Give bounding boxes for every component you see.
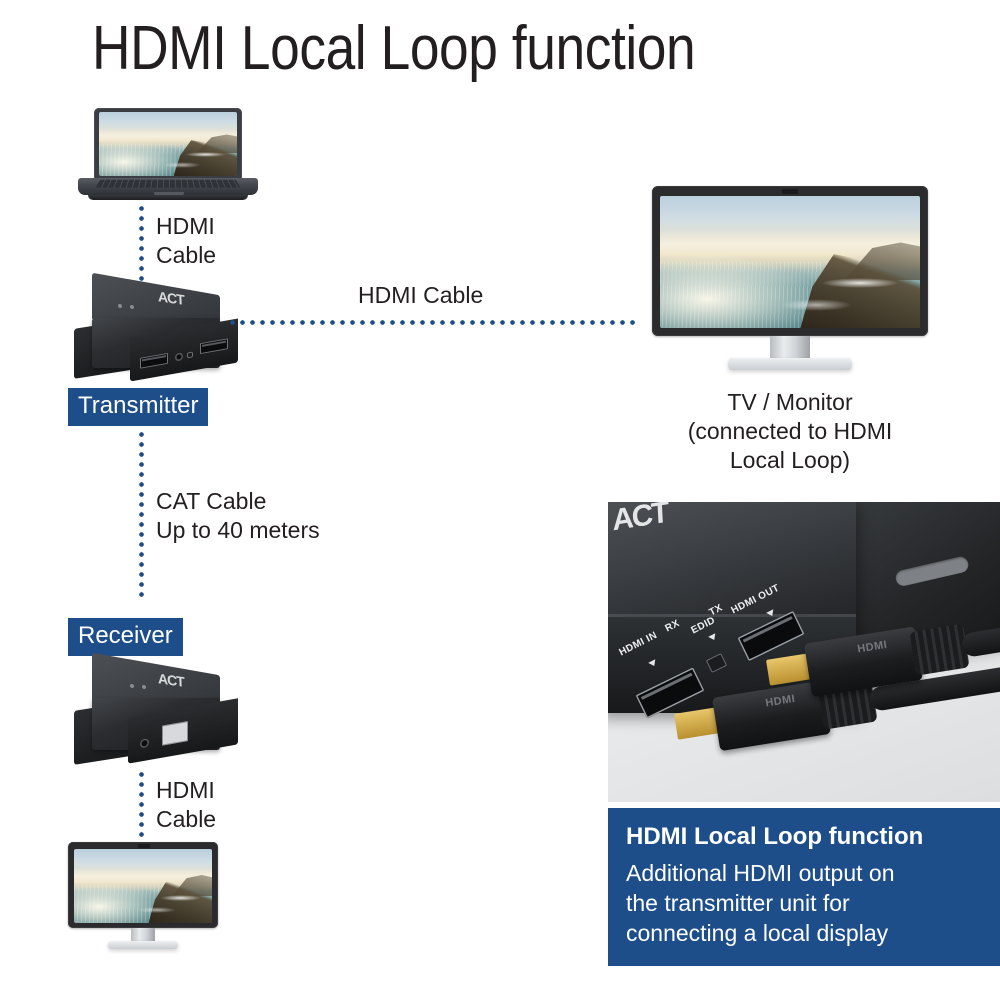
tv-neck xyxy=(770,336,810,360)
monitor-camera xyxy=(138,844,150,848)
act-logo-photo: ACT xyxy=(611,502,668,538)
tv-screen xyxy=(660,196,920,328)
caption-body: Additional HDMI output on the transmitte… xyxy=(626,858,982,948)
label-hdmi-cable-top: HDMI Cable xyxy=(156,212,216,270)
status-led xyxy=(130,684,134,689)
caption-heading: HDMI Local Loop function xyxy=(626,822,982,852)
plug-hdmi-text: HDMI xyxy=(857,639,889,656)
tv-wallpaper xyxy=(660,196,920,328)
connector-receiver-to-monitor xyxy=(139,772,144,844)
tv-monitor-image xyxy=(652,186,928,376)
laptop-keyboard xyxy=(96,180,241,188)
monitor-screen xyxy=(74,849,212,923)
transmitter-unit-image: ACT xyxy=(74,284,244,376)
rj45-port xyxy=(162,721,188,746)
receiver-power-jack xyxy=(140,738,149,749)
tag-receiver: Receiver xyxy=(68,618,183,656)
caption-box: HDMI Local Loop function Additional HDMI… xyxy=(608,808,1000,966)
plug-strain-relief xyxy=(909,624,969,676)
laptop-image xyxy=(78,108,258,202)
label-tv-monitor: TV / Monitor (connected to HDMI Local Lo… xyxy=(640,388,940,475)
status-led xyxy=(130,305,134,310)
diagram-canvas: HDMI Local Loop function HDMI Cable xyxy=(0,0,1000,1000)
plug-hdmi-text: HDMI xyxy=(765,693,797,710)
page-title: HDMI Local Loop function xyxy=(92,14,832,84)
tv-camera xyxy=(782,189,798,194)
product-closeup-photo: ACT HDMI IN RX EDID TX HDMI OUT HDMI xyxy=(608,502,1000,802)
connector-laptop-to-transmitter xyxy=(139,206,144,282)
connector-transmitter-to-receiver xyxy=(139,432,144,602)
mount-slot xyxy=(894,555,970,587)
connector-transmitter-to-tv xyxy=(230,320,640,325)
laptop-foot xyxy=(88,195,248,200)
label-cat-cable: CAT Cable Up to 40 meters xyxy=(156,487,320,545)
receiver-unit-image: ACT xyxy=(74,662,244,762)
status-led xyxy=(142,685,146,690)
local-monitor-image xyxy=(68,842,218,952)
laptop-screen xyxy=(99,112,237,176)
tv-stand xyxy=(728,358,852,370)
tag-transmitter: Transmitter xyxy=(68,388,208,426)
hdmi-out-port xyxy=(200,338,228,354)
label-hdmi-cable-middle: HDMI Cable xyxy=(358,281,483,310)
power-jack xyxy=(175,352,183,361)
status-led xyxy=(118,304,122,309)
label-hdmi-cable-bottom: HDMI Cable xyxy=(156,776,216,834)
laptop-wallpaper xyxy=(99,112,237,176)
monitor-wallpaper xyxy=(74,849,212,923)
laptop-lid xyxy=(94,108,242,180)
monitor-stand xyxy=(108,941,178,949)
edid-switch xyxy=(187,351,193,358)
hdmi-in-port xyxy=(140,353,168,369)
